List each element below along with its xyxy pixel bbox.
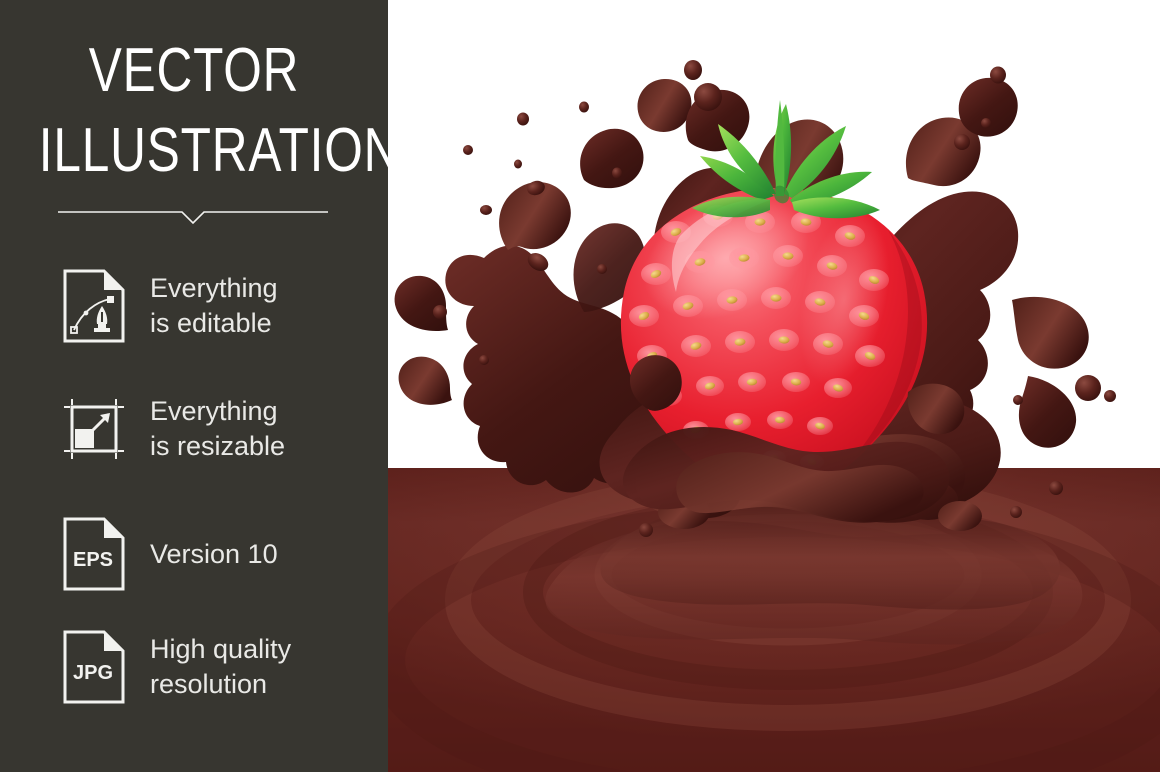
feature-label: Everything is editable [150, 271, 278, 340]
jpg-icon-label: JPG [73, 662, 113, 684]
feature-item-editable: Everything is editable [62, 268, 278, 344]
info-panel: VECTOR ILLUSTRATION [0, 0, 388, 772]
feature-item-quality: JPG High quality resolution [62, 629, 291, 705]
jpg-file-icon: JPG [62, 629, 126, 705]
strawberry-chocolate-illustration [388, 0, 1160, 772]
feature-item-resizable: Everything is resizable [62, 391, 285, 467]
feature-item-version: EPS Version 10 [62, 516, 278, 592]
resize-arrow-icon [62, 391, 126, 467]
document-pen-tool-icon [62, 268, 126, 344]
feature-label: Everything is resizable [150, 394, 285, 463]
feature-label: High quality resolution [150, 632, 291, 701]
feature-label: Version 10 [150, 537, 278, 572]
poster-canvas: VECTOR ILLUSTRATION [0, 0, 1160, 772]
poster-title: VECTOR ILLUSTRATION [0, 40, 388, 182]
title-line-vector: VECTOR [39, 40, 349, 102]
eps-icon-label: EPS [73, 549, 113, 571]
title-line-illustration: ILLUSTRATION [39, 120, 349, 182]
notched-divider [58, 206, 328, 226]
eps-file-icon: EPS [62, 516, 126, 592]
